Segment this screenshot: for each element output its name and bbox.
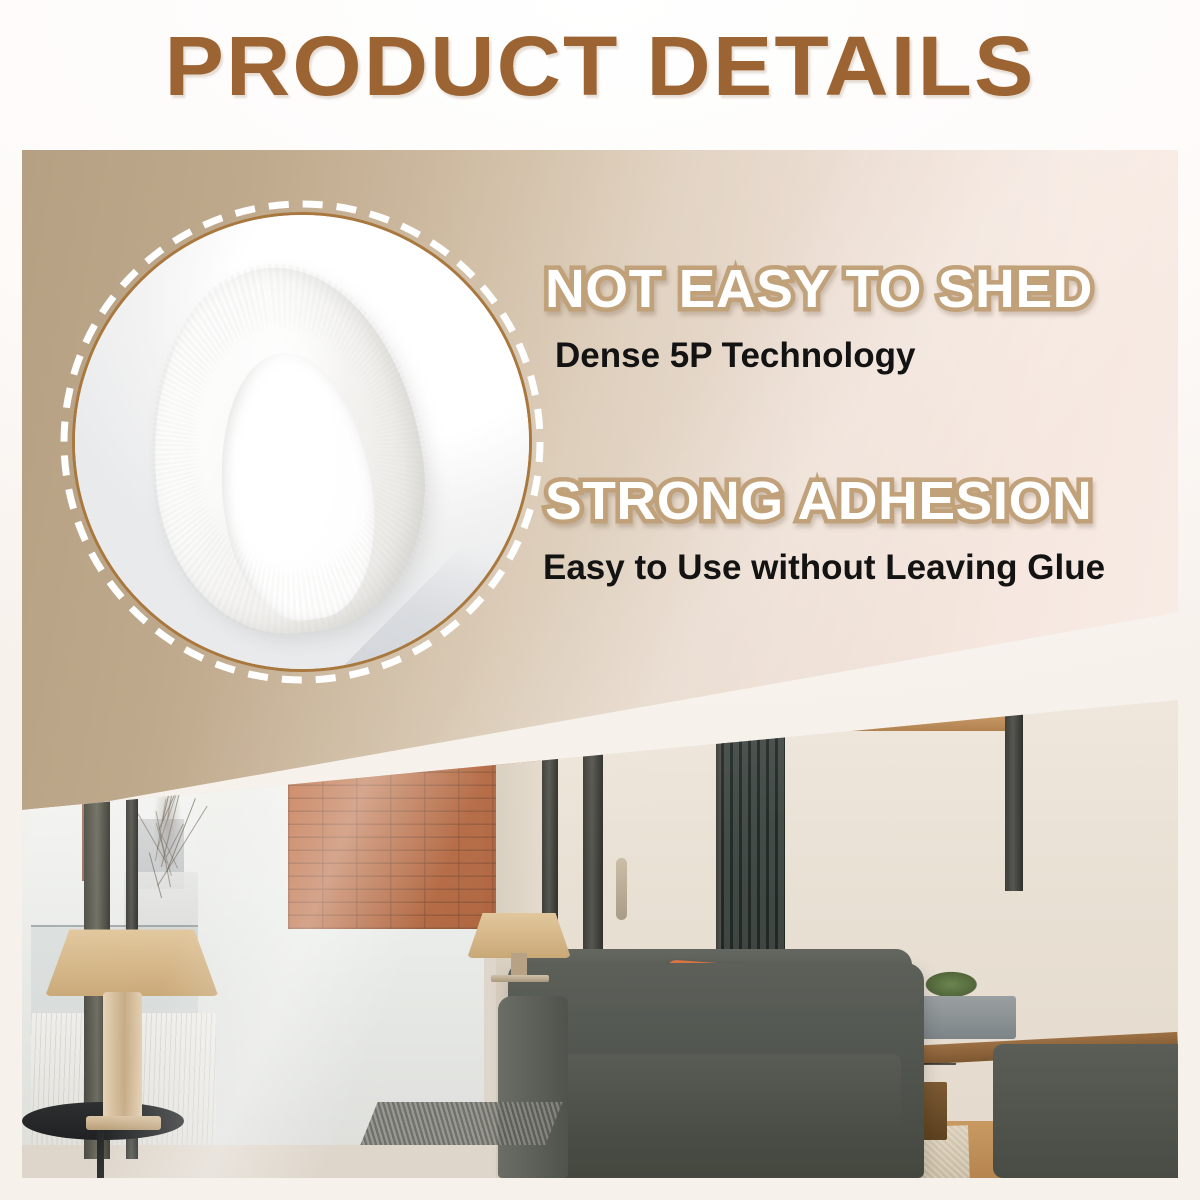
product-details-page: PRODUCT DETAILS PRODUCT DETAILS NOT EASY… (0, 0, 1200, 1200)
lamp-stem-near (103, 992, 142, 1126)
lamp-base-near (86, 1116, 161, 1130)
feature-heading-1: NOT EASY TO SHED (545, 258, 1198, 320)
lamp-base-far (491, 975, 549, 983)
sofa-second (993, 1044, 1178, 1178)
sliding-door-handle (616, 858, 626, 920)
seal-coil-outer (132, 252, 443, 648)
feature-subtext-2: Easy to Use without Leaving Glue (543, 546, 1185, 590)
feature-heading-2: STRONG ADHESION (545, 470, 1198, 532)
feature-list: NOT EASY TO SHED Dense 5P Technology STR… (545, 258, 1185, 596)
product-closeup-circle (52, 192, 552, 692)
product-closeup-photo (75, 215, 529, 669)
product-closeup-frame (72, 212, 532, 672)
page-title: PRODUCT DETAILS (0, 18, 1200, 114)
sofa-seat (554, 1054, 901, 1130)
floor-mat (360, 1102, 562, 1145)
seal-coil-inner (206, 344, 388, 628)
sofa-armrest (498, 996, 567, 1178)
side-table-leg (97, 1130, 104, 1178)
window-frame-right (1005, 700, 1023, 891)
feature-subtext-1: Dense 5P Technology (555, 334, 1185, 378)
feature-item-2: STRONG ADHESION Easy to Use without Leav… (545, 470, 1185, 590)
feature-item-1: NOT EASY TO SHED Dense 5P Technology (545, 258, 1185, 378)
lamp-stem-far (511, 953, 527, 977)
lamp-shade-near (45, 929, 218, 996)
page-title-block: PRODUCT DETAILS (0, 18, 1200, 136)
lamp-shade-far (467, 913, 571, 958)
